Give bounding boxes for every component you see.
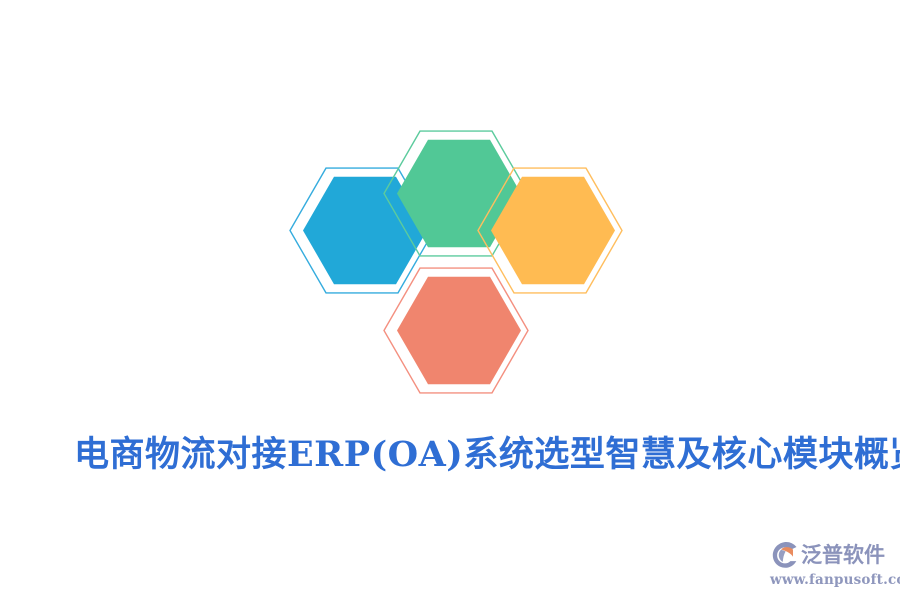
salmon-hexagon-fill (397, 277, 521, 384)
banner-canvas: 电商物流对接ERP(OA)系统选型智慧及核心模块概览 泛普软件 www.fanp… (0, 0, 900, 600)
logo-website-url: www.fanpusoft.com (770, 572, 892, 589)
hexagon-cluster-diagram (240, 125, 660, 400)
fanpu-swoosh-logo-icon (770, 540, 800, 570)
brand-logo[interactable]: 泛普软件 www.fanpusoft.com (770, 538, 892, 594)
logo-wordmark: 泛普软件 (801, 540, 885, 570)
page-title: 电商物流对接ERP(OA)系统选型智慧及核心模块概览 (74, 430, 844, 482)
logo-top-row: 泛普软件 (770, 538, 892, 571)
hexagon-cell-salmon[interactable] (384, 268, 528, 393)
